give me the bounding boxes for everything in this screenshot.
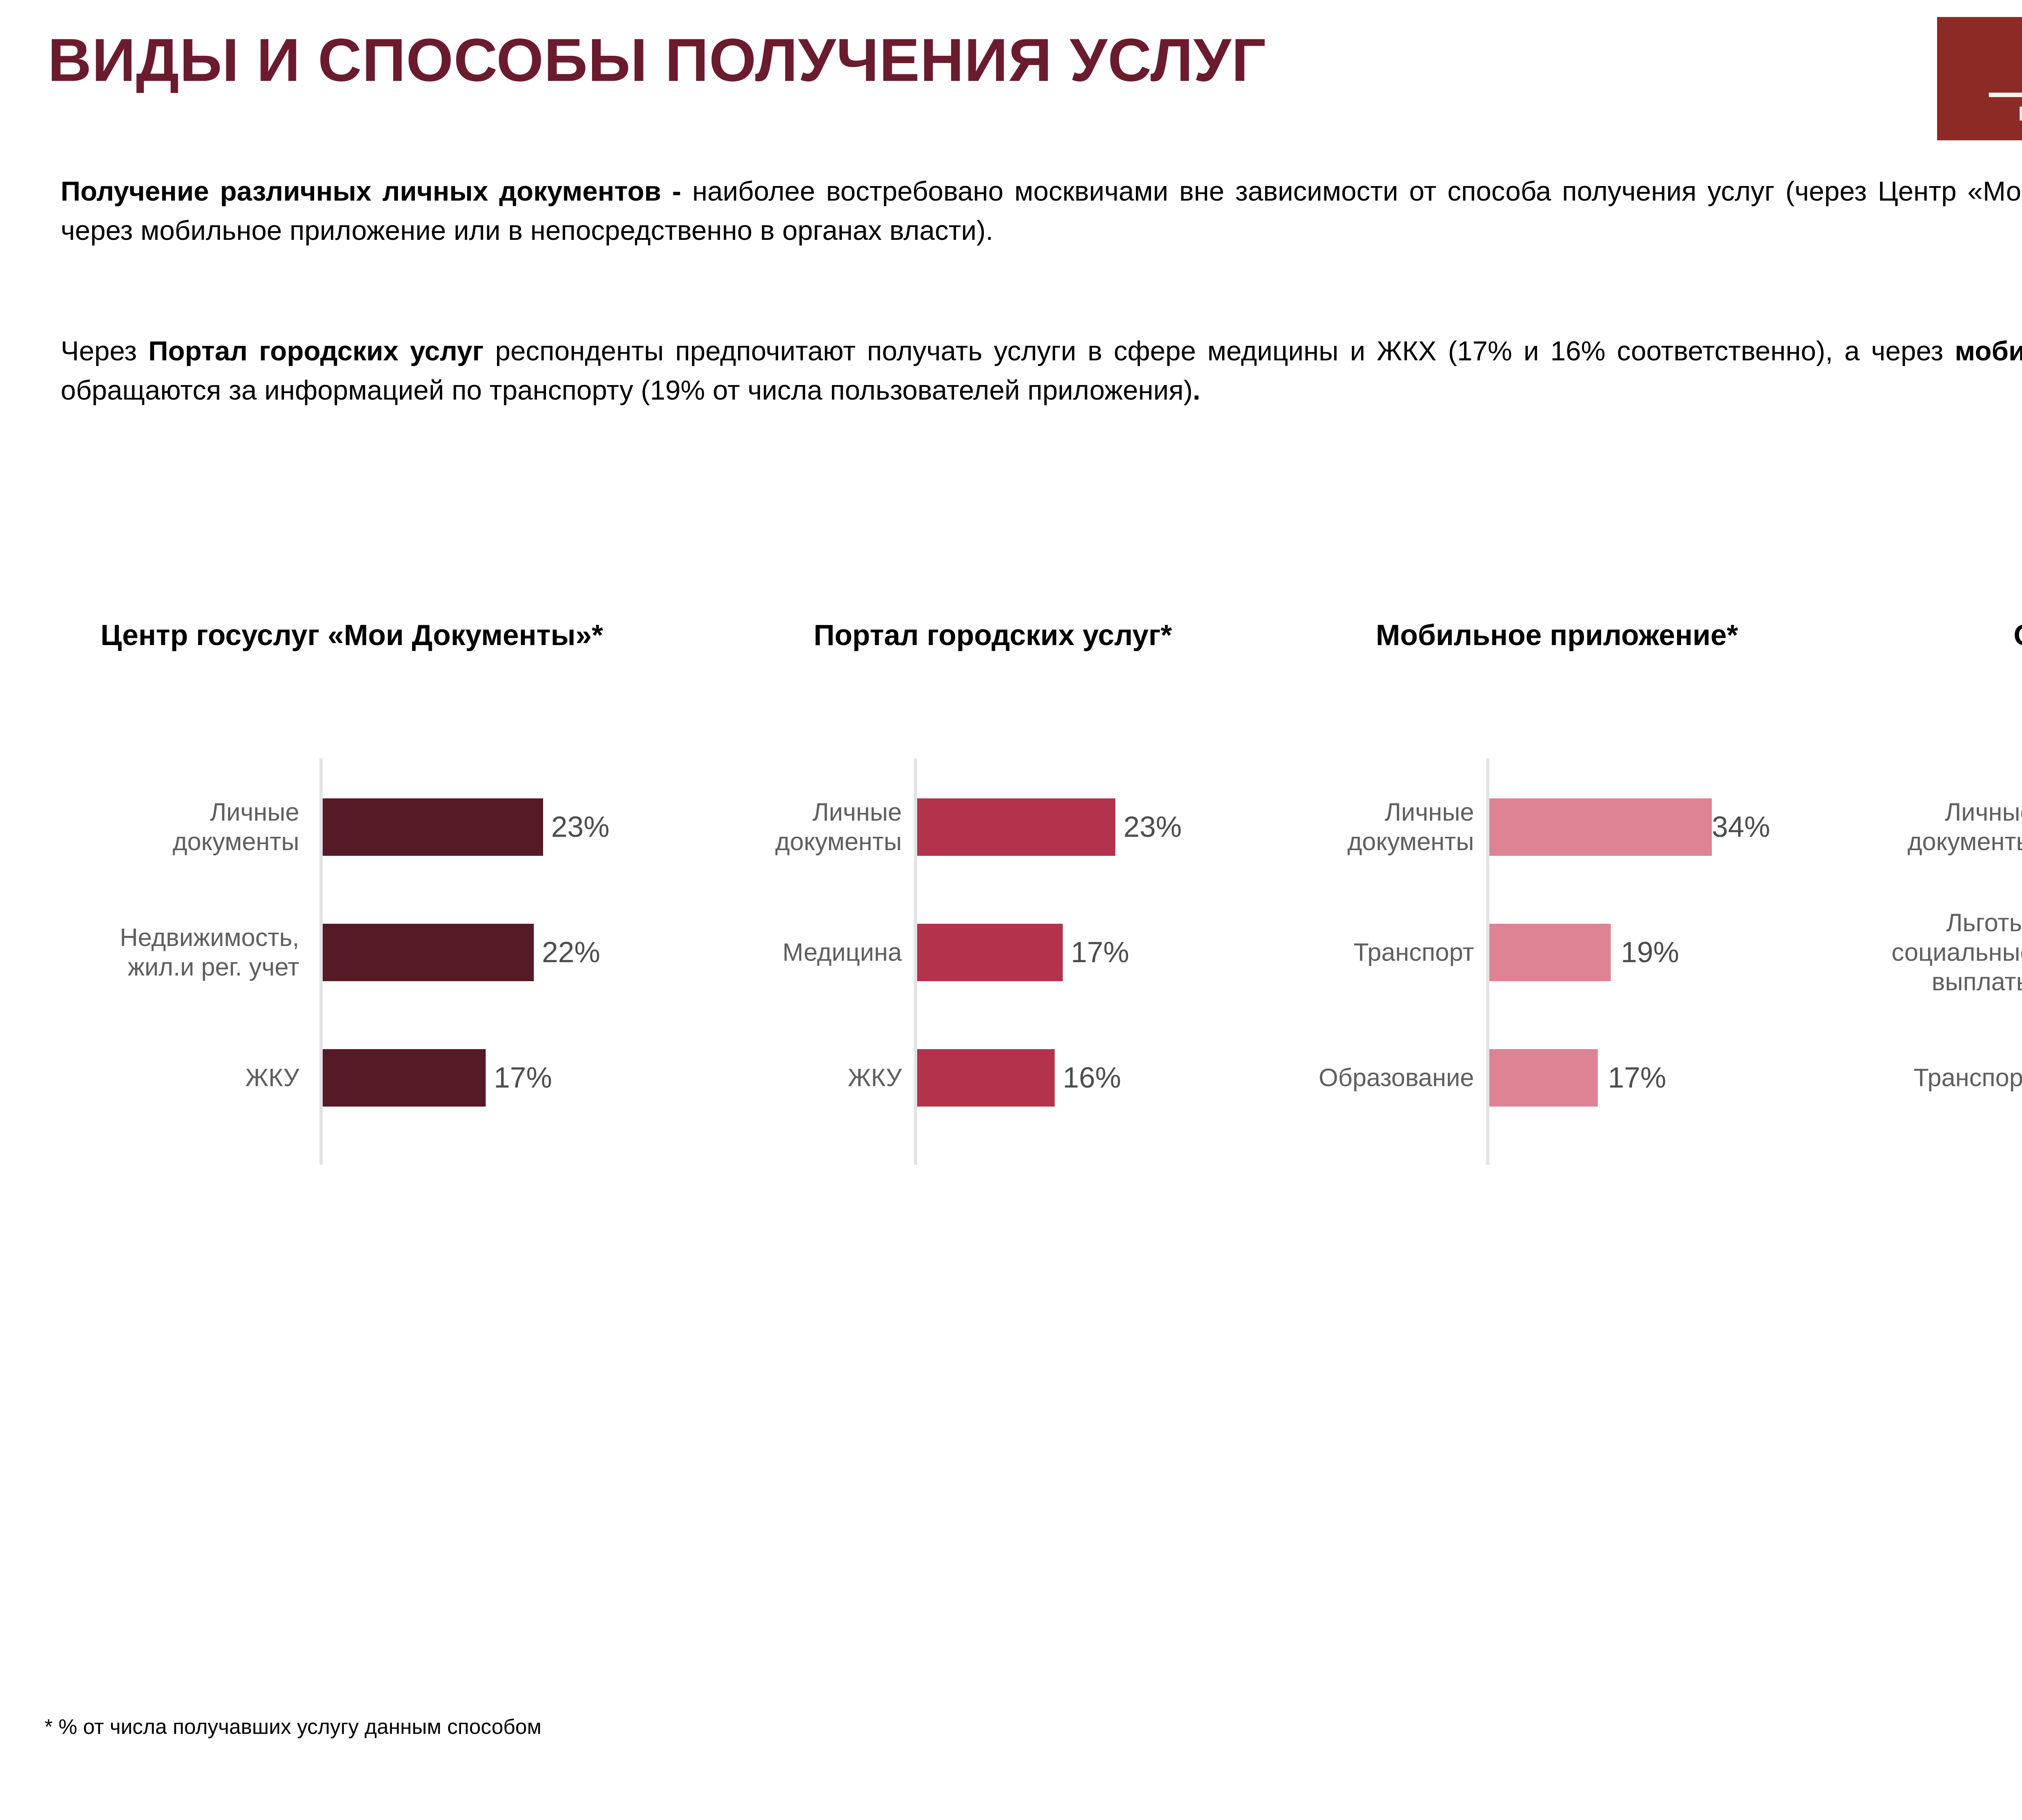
bar-value-label: 17% [1608, 1061, 1666, 1094]
intro-paragraph-2: Через Портал городских услуг респонденты… [61, 332, 2022, 410]
bar-category-label: Льготы, социальные выплаты [1840, 908, 2022, 997]
bar-rect [917, 1049, 1055, 1107]
bar-row: Личные документы 23% [704, 781, 1282, 874]
chart-plot-area: Личные документы 23% Медицина 17% ЖКУ 16… [704, 752, 1282, 1165]
bar-category-label: Личные документы [1264, 798, 1474, 857]
page-title: ВИДЫ И СПОСОБЫ ПОЛУЧЕНИЯ УСЛУГ [48, 28, 1266, 92]
bar-category-label: Недвижимость, жил.и рег. учет [0, 923, 299, 982]
bar-category-label: Личные документы [0, 798, 299, 857]
bar-row: ЖКУ 17% [0, 1031, 704, 1124]
bar-row: Недвижимость, жил.и рег. учет 22% [0, 906, 704, 999]
bar-row: Личные документы 34% [1282, 781, 1832, 874]
bar-value-label: 22% [542, 936, 600, 969]
magram-logo: MAGRAM ™ MARKET RESEARCH [1937, 17, 2022, 140]
paragraph-1-bold-lead: Получение различных личных документов - [61, 176, 681, 207]
chart-title: Центр госуслуг «Мои Документы»* [0, 619, 704, 652]
bar-category-label: ЖКУ [0, 1063, 299, 1092]
bar-category-label: Личные документы [708, 798, 902, 857]
chart-panel-authorities: Органы власти* Личные документы 34% Льго… [1832, 619, 2022, 1165]
bar-row: Личные документы 34% [1832, 781, 2022, 874]
bar-row: Образование 17% [1282, 1031, 1832, 1124]
paragraph-2-part-2: респонденты предпочитают получать услуги… [484, 336, 1955, 366]
chart-plot-area: Личные документы 23% Недвижимость, жил.и… [0, 752, 704, 1165]
bar-category-label: Образование [1264, 1063, 1474, 1092]
bar-rect [917, 798, 1115, 856]
chart-panel-mobile-app: Мобильное приложение* Личные документы 3… [1282, 619, 1832, 1165]
bar-row: Личные документы 23% [0, 781, 704, 874]
bar-value-label: 17% [1071, 936, 1129, 969]
bar-value-label: 23% [1123, 811, 1182, 844]
bar-value-label: 17% [494, 1061, 552, 1094]
chart-panel-portal: Портал городских услуг* Личные документы… [704, 619, 1282, 1165]
chart-title: Портал городских услуг* [704, 619, 1282, 652]
bar-rect [917, 924, 1063, 981]
bar-category-label: Транспорт [1840, 1063, 2022, 1092]
bar-category-label: Медицина [708, 938, 902, 967]
chart-panel-mfc: Центр госуслуг «Мои Документы»* Личные д… [0, 619, 704, 1165]
bar-row: Льготы, социальные выплаты 14% [1832, 906, 2022, 999]
bar-rect [323, 924, 534, 981]
bar-value-label: 19% [1621, 936, 1679, 969]
bar-value-label: 16% [1063, 1061, 1121, 1094]
logo-divider [1989, 93, 2022, 97]
bar-row: ЖКУ 16% [704, 1031, 1282, 1124]
charts-row: Центр госуслуг «Мои Документы»* Личные д… [0, 619, 2022, 1165]
paragraph-2-bold-app: мобильное приложение [1955, 336, 2022, 366]
bar-rect [1489, 1049, 1598, 1107]
logo-subtitle: MARKET RESEARCH [2014, 104, 2022, 124]
bar-rect [323, 1049, 486, 1107]
bar-row: Транспорт 14% [1832, 1031, 2022, 1124]
footnote: * % от числа получавших услугу данным сп… [44, 1715, 541, 1739]
bar-category-label: ЖКУ [708, 1063, 902, 1092]
paragraph-2-bold-portal: Портал городских услуг [148, 336, 484, 366]
chart-title: Мобильное приложение* [1282, 619, 1832, 652]
bar-rect [323, 798, 543, 856]
bar-category-label: Личные документы [1840, 798, 2022, 857]
bar-row: Транспорт 19% [1282, 906, 1832, 999]
bar-rect [1489, 924, 1611, 981]
bar-rect [1489, 798, 1712, 856]
intro-paragraph-1: Получение различных личных документов - … [61, 172, 2022, 250]
paragraph-2-bold-end: . [1193, 375, 1200, 406]
chart-title: Органы власти* [1832, 619, 2022, 652]
paragraph-2-part-1: Через [61, 336, 148, 366]
bar-row: Медицина 17% [704, 906, 1282, 999]
slide-header: ВИДЫ И СПОСОБЫ ПОЛУЧЕНИЯ УСЛУГ MAGRAM ™ … [0, 0, 2022, 154]
chart-plot-area: Личные документы 34% Транспорт 19% Образ… [1282, 752, 1832, 1165]
chart-plot-area: Личные документы 34% Льготы, социальные … [1832, 752, 2022, 1165]
bar-category-label: Транспорт [1264, 938, 1474, 967]
bar-value-label: 23% [551, 811, 609, 844]
bar-value-label: 34% [1712, 811, 1770, 844]
